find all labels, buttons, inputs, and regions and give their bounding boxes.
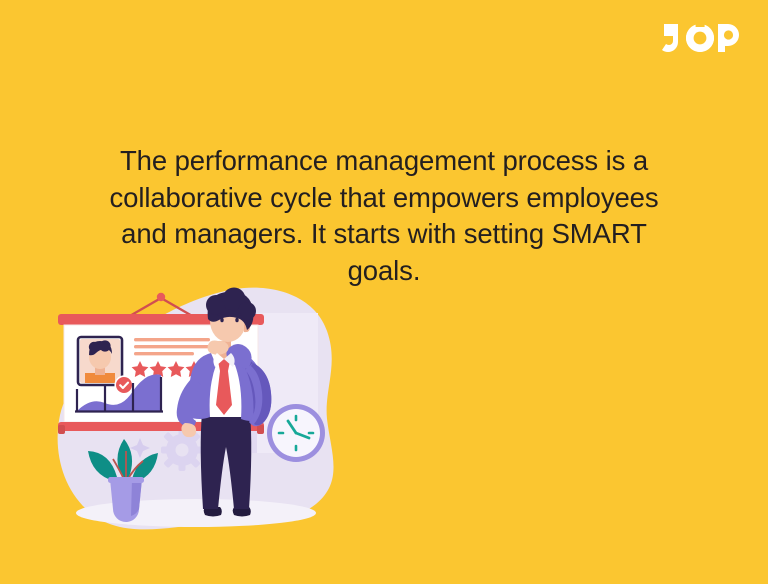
gear-icon <box>161 429 203 471</box>
jop-logo[interactable]: JOP <box>662 22 740 56</box>
wall-clock <box>267 404 325 462</box>
headline-text: The performance management process is a … <box>84 143 684 289</box>
verified-check-badge <box>114 375 133 394</box>
right-hand <box>208 341 229 355</box>
performance-review-illustration <box>48 285 348 547</box>
slide-canvas: JOP The performance management process i… <box>0 0 768 584</box>
floor-shadow <box>76 499 316 527</box>
